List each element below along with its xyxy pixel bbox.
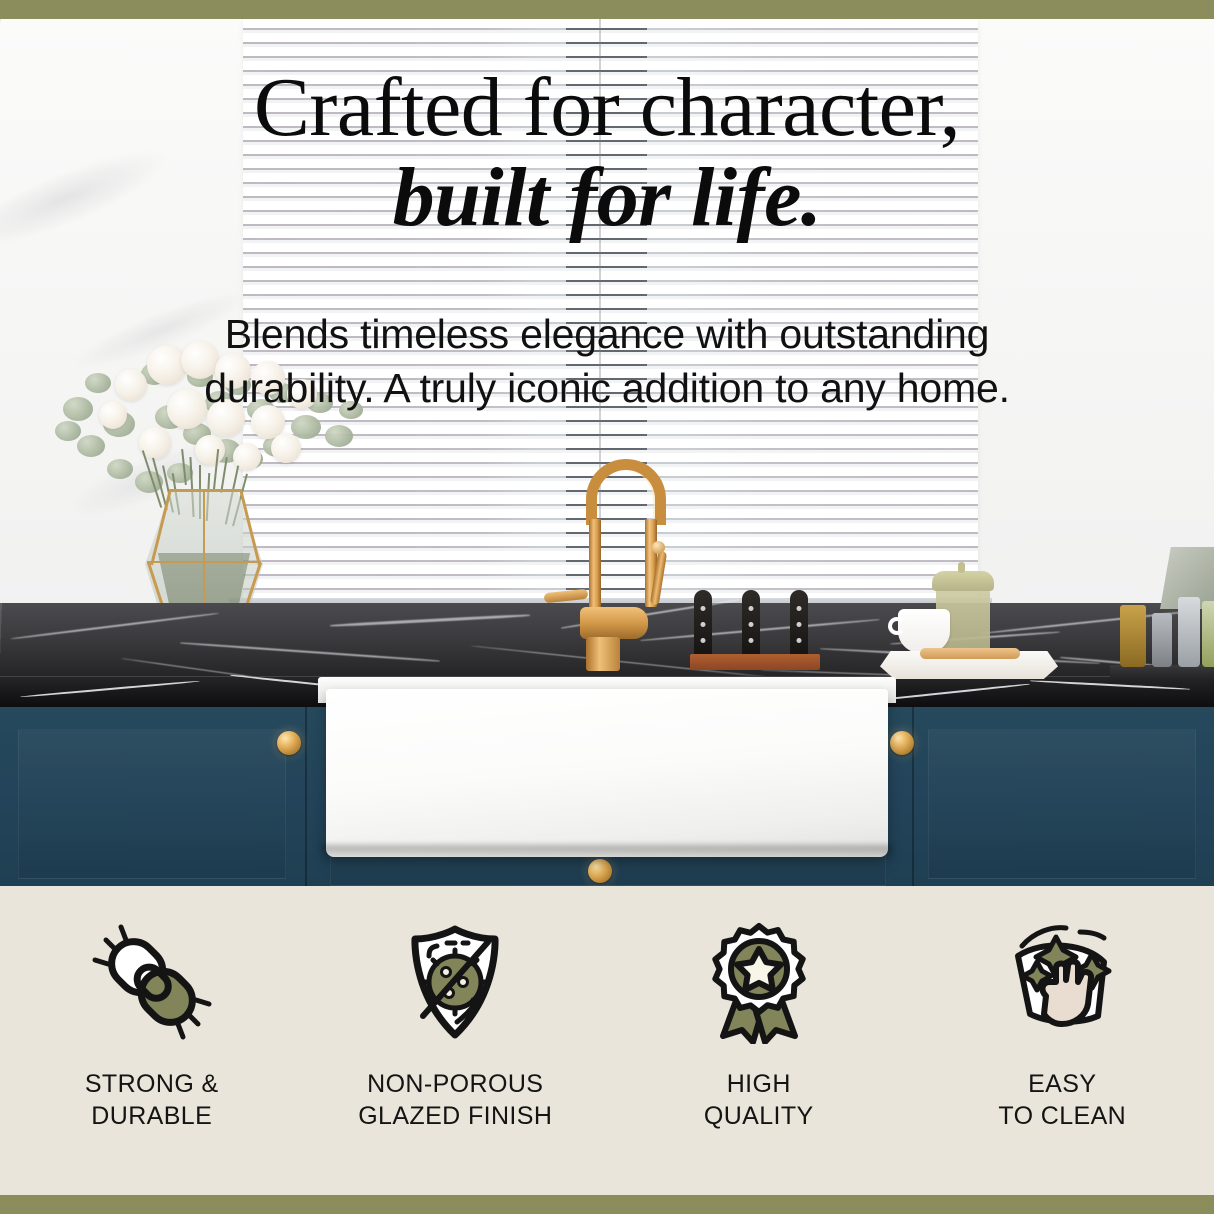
- countertop-vein: [11, 612, 220, 640]
- knife-block: [690, 584, 820, 676]
- feature-non-porous: NON-POROUS GLAZED FINISH: [315, 914, 595, 1132]
- feature-label-line-1: NON-POROUS: [358, 1068, 552, 1100]
- faucet-base: [586, 637, 620, 671]
- headline-line-1: Crafted for character,: [0, 65, 1214, 151]
- knife-2: [742, 590, 760, 656]
- faucet-spout-arc: [586, 459, 666, 525]
- hero-photo: Crafted for character, built for life. B…: [0, 19, 1214, 886]
- spice-jar: [1120, 605, 1146, 667]
- chain-link-icon: [90, 914, 214, 1050]
- headline-line-2: built for life.: [0, 151, 1214, 245]
- knife-block-base: [690, 654, 820, 670]
- jar-knob: [958, 562, 965, 573]
- sink-drop-shadow: [322, 845, 892, 861]
- subheadline-line-1: Blends timeless elegance with outstandin…: [0, 307, 1214, 361]
- ceramic-tray-set: [880, 549, 1070, 679]
- countertop-vein: [330, 614, 530, 627]
- vase-frame-edge: [239, 489, 261, 565]
- apron-front-sink: [326, 689, 888, 857]
- cabinet-seam: [912, 707, 914, 886]
- eucalyptus-leaf: [77, 435, 105, 457]
- hand-wiping-cloth-sparkle-icon: [1000, 914, 1124, 1050]
- feature-easy-to-clean: EASY TO CLEAN: [922, 914, 1202, 1132]
- product-banner: Crafted for character, built for life. B…: [0, 0, 1214, 1214]
- headline-block: Crafted for character, built for life.: [0, 65, 1214, 245]
- feature-label-line-2: QUALITY: [704, 1100, 814, 1132]
- vase-frame-edge: [150, 489, 172, 565]
- subheadline-block: Blends timeless elegance with outstandin…: [0, 307, 1214, 415]
- brass-faucet: [566, 459, 686, 689]
- faucet-body: [580, 607, 648, 639]
- feature-label-line-2: DURABLE: [85, 1100, 219, 1132]
- shield-germ-blocked-icon: [393, 914, 517, 1050]
- eucalyptus-leaf: [107, 459, 133, 479]
- oil-bottle: [1178, 597, 1200, 667]
- award-ribbon-star-icon: [697, 914, 821, 1050]
- cup-handle: [888, 617, 906, 635]
- cabinet-knob-left: [277, 731, 301, 755]
- eucalyptus-leaf: [325, 425, 353, 447]
- eucalyptus-leaf: [55, 421, 81, 441]
- feature-label-line-2: TO CLEAN: [998, 1100, 1126, 1132]
- white-rose: [271, 433, 301, 463]
- knife-1: [694, 590, 712, 656]
- feature-strong-durable: STRONG & DURABLE: [12, 914, 292, 1132]
- feature-label-non-porous: NON-POROUS GLAZED FINISH: [358, 1068, 552, 1132]
- feature-label-high-quality: HIGH QUALITY: [704, 1068, 814, 1132]
- white-cup: [898, 609, 950, 653]
- feature-label-easy-to-clean: EASY TO CLEAN: [998, 1068, 1126, 1132]
- pepper-grinder: [1152, 613, 1172, 667]
- faucet-lever-knob: [652, 541, 665, 554]
- feature-label-line-1: STRONG &: [85, 1068, 219, 1100]
- cabinet-door-panel: [928, 729, 1196, 879]
- feature-label-line-1: EASY: [998, 1068, 1126, 1100]
- feature-label-line-2: GLAZED FINISH: [358, 1100, 552, 1132]
- vase-frame-edge: [147, 561, 261, 563]
- tray-wooden-handle: [920, 648, 1020, 659]
- countertop-edge-vein: [1030, 680, 1190, 690]
- cabinet-knob-drawer: [588, 859, 612, 883]
- countertop-vein: [180, 642, 439, 662]
- feature-label-strong-durable: STRONG & DURABLE: [85, 1068, 219, 1132]
- white-rose: [195, 435, 225, 465]
- olive-oil-bottle: [1202, 601, 1214, 667]
- top-accent-rule: [0, 0, 1214, 19]
- feature-high-quality: HIGH QUALITY: [619, 914, 899, 1132]
- bottle-caddy: [1118, 559, 1214, 679]
- bottom-accent-rule: [0, 1195, 1214, 1214]
- subheadline-line-2: durability. A truly iconic addition to a…: [0, 361, 1214, 415]
- bottle-caddy-base: [1110, 665, 1214, 679]
- cabinet-knob-right: [890, 731, 914, 755]
- countertop-edge-vein: [20, 680, 200, 698]
- eucalyptus-leaf: [291, 415, 321, 439]
- cabinet-door-panel: [18, 729, 286, 879]
- vase-frame-edge: [169, 489, 241, 492]
- cabinet-seam: [305, 707, 307, 886]
- feature-strip: STRONG & DURABLE: [0, 886, 1214, 1195]
- jar-lid: [932, 571, 994, 591]
- feature-label-line-1: HIGH: [704, 1068, 814, 1100]
- knife-3: [790, 590, 808, 656]
